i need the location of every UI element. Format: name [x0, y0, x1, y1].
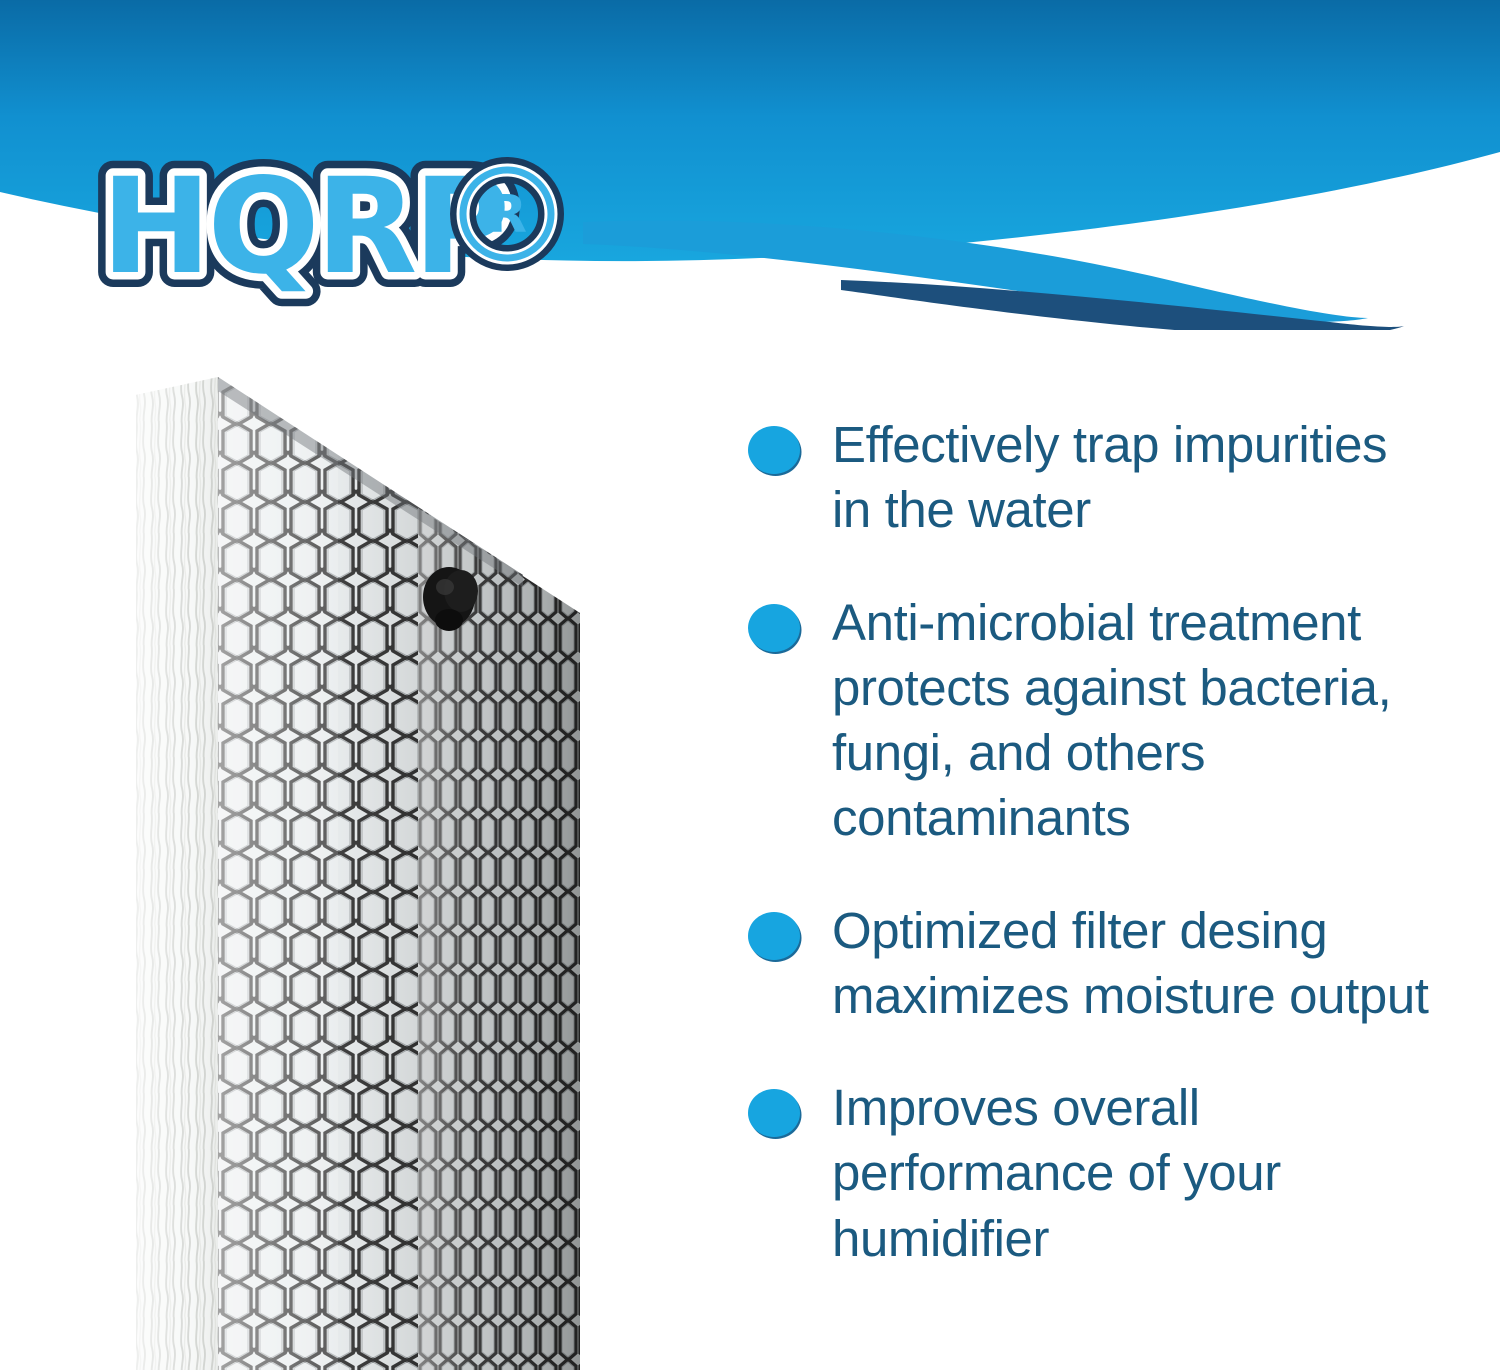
- logo-wordmark: HQRP: [101, 150, 506, 304]
- bullet-dot-icon: [748, 1089, 800, 1137]
- svg-text:R: R: [487, 185, 527, 245]
- feature-bullet-list: Effectively trap impurities in the water…: [748, 412, 1438, 1271]
- feature-text: Effectively trap impurities in the water: [832, 412, 1432, 543]
- feature-item-1: Effectively trap impurities in the water: [748, 412, 1438, 543]
- bullet-dot-icon: [748, 604, 800, 652]
- feature-text: Anti-microbial treatment protects agains…: [832, 590, 1432, 851]
- feature-item-3: Optimized filter desing maximizes moistu…: [748, 898, 1438, 1029]
- feature-item-2: Anti-microbial treatment protects agains…: [748, 590, 1438, 851]
- bullet-dot-icon: [748, 912, 800, 960]
- bullet-dot-icon: [748, 426, 800, 474]
- brand-logo: HQRP HQRP HQRP R: [95, 150, 575, 320]
- feature-text: Improves overall performance of your hum…: [832, 1075, 1432, 1271]
- feature-item-4: Improves overall performance of your hum…: [748, 1075, 1438, 1271]
- product-image-humidifier-filter: [118, 365, 598, 1370]
- feature-text: Optimized filter desing maximizes moistu…: [832, 898, 1432, 1029]
- product-marketing-image: HQRP HQRP HQRP R: [0, 0, 1500, 1370]
- mesh-highlight: [218, 365, 338, 1370]
